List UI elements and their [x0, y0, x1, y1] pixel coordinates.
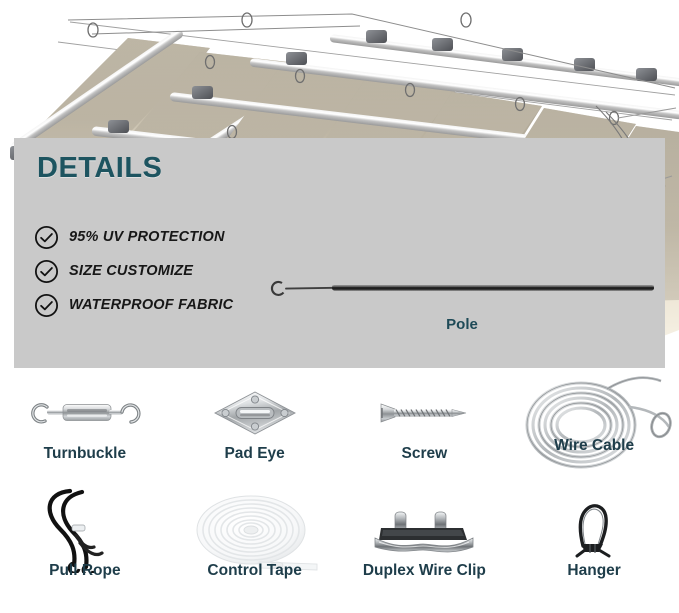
- check-circle-icon: [34, 259, 59, 284]
- feature-list: 95% UV PROTECTION SIZE CUSTOMIZE WATERPR…: [34, 222, 233, 324]
- feature-item-uv-protection: 95% UV PROTECTION: [34, 222, 233, 252]
- accessory-label: Hanger: [509, 562, 679, 580]
- feature-label: 95% UV PROTECTION: [69, 229, 225, 245]
- hanger-clip-icon: [509, 494, 679, 566]
- screw-icon: [340, 377, 510, 449]
- pull-rope-icon: [0, 486, 170, 572]
- accessories-section: Turnbuckle: [0, 372, 679, 611]
- accessory-label: Turnbuckle: [0, 445, 170, 463]
- accessory-label: Pad Eye: [170, 445, 340, 463]
- accessory-item-pad-eye: Pad Eye: [170, 377, 340, 496]
- accessory-label: Pull Rope: [0, 562, 170, 580]
- check-circle-icon: [34, 293, 59, 318]
- feature-item-size-customize: SIZE CUSTOMIZE: [34, 256, 233, 286]
- pole-with-hook-icon: [266, 274, 658, 304]
- page-title: DETAILS: [37, 152, 162, 185]
- feature-label: WATERPROOF FABRIC: [69, 297, 233, 313]
- accessory-label: Wire Cable: [509, 437, 679, 455]
- wire-cable-coil-icon: [509, 369, 679, 473]
- feature-label: SIZE CUSTOMIZE: [69, 263, 193, 279]
- accessory-item-control-tape: Control Tape: [170, 494, 340, 613]
- accessory-item-duplex-wire-clip: Duplex Wire Clip: [340, 494, 510, 613]
- pad-eye-icon: [170, 377, 340, 449]
- accessory-item-wire-cable: Wire Cable: [509, 377, 679, 496]
- accessory-item-pull-rope: Pull Rope: [0, 494, 170, 613]
- accessory-item-screw: Screw: [340, 377, 510, 496]
- duplex-wire-clip-icon: [340, 494, 510, 566]
- pole-label: Pole: [266, 316, 658, 333]
- pole-figure: Pole: [266, 274, 658, 344]
- accessory-label: Screw: [340, 445, 510, 463]
- check-circle-icon: [34, 225, 59, 250]
- accessory-item-hanger: Hanger: [509, 494, 679, 613]
- accessory-label: Duplex Wire Clip: [340, 562, 510, 580]
- accessory-row: Pull Rope: [0, 494, 679, 613]
- accessory-row: Turnbuckle: [0, 377, 679, 496]
- feature-item-waterproof-fabric: WATERPROOF FABRIC: [34, 290, 233, 320]
- details-panel: DETAILS 95% UV PROTECTION SIZE CUSTOMIZE: [14, 138, 665, 368]
- accessory-item-turnbuckle: Turnbuckle: [0, 377, 170, 496]
- accessory-label: Control Tape: [170, 562, 340, 580]
- turnbuckle-icon: [0, 377, 170, 449]
